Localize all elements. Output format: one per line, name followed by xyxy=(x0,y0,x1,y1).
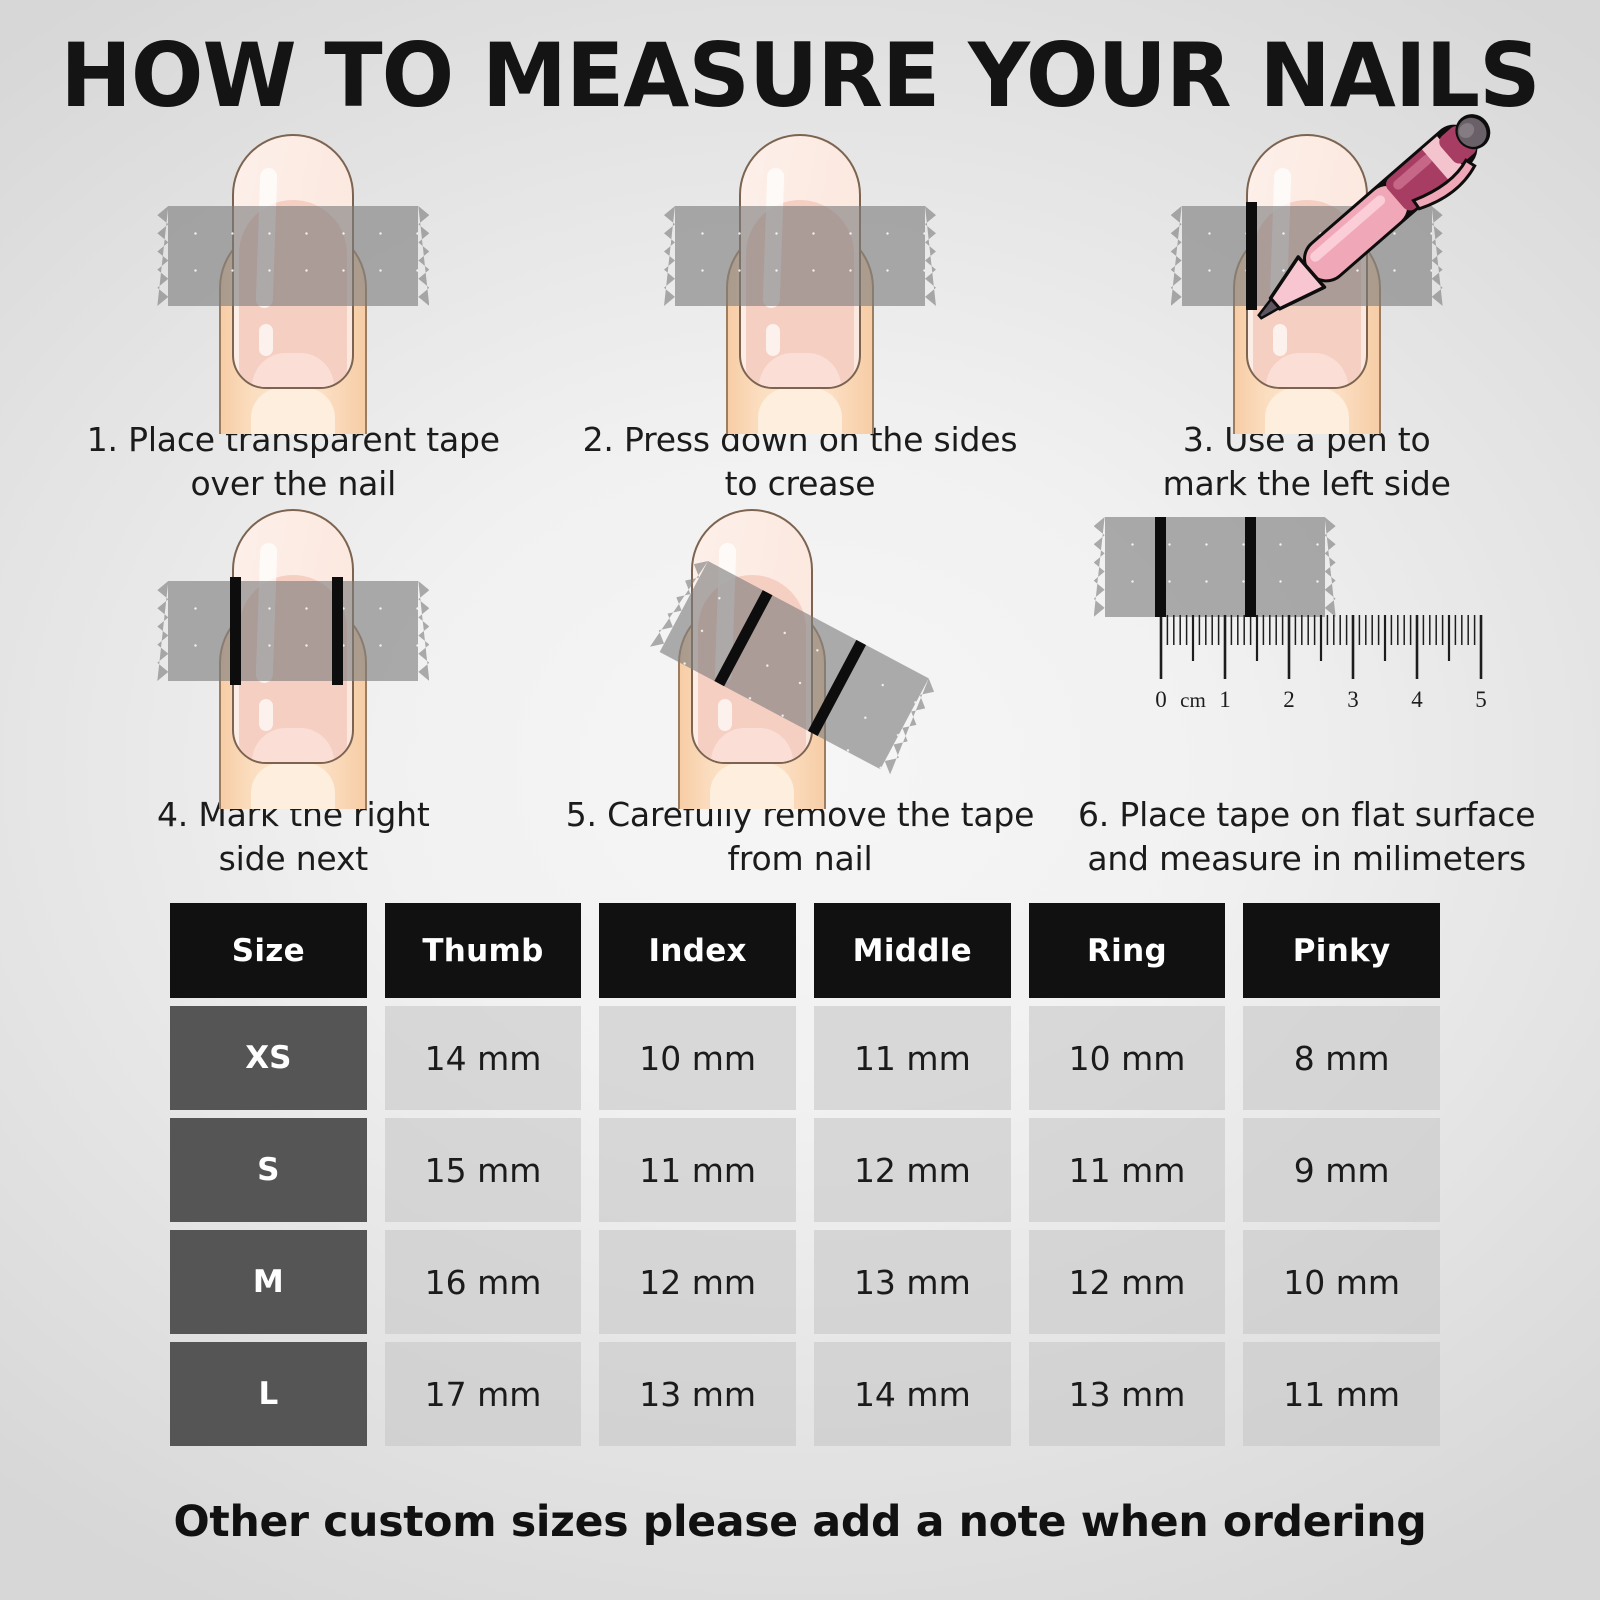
table-cell: 8 mm xyxy=(1243,1006,1440,1110)
right-mark xyxy=(1245,517,1256,617)
table-row: L xyxy=(170,1342,367,1446)
table-cell: 13 mm xyxy=(1029,1342,1226,1446)
step-3: 3. Use a pen to mark the left side xyxy=(1053,128,1560,503)
left-mark xyxy=(1155,517,1166,617)
step-6: 012345cm 6. Place tape on flat surface a… xyxy=(1053,503,1560,878)
pen-icon xyxy=(1232,100,1522,335)
measured-tape-strip xyxy=(1105,517,1325,617)
step-6-caption: 6. Place tape on flat surface and measur… xyxy=(1053,793,1560,881)
table-header-pinky: Pinky xyxy=(1243,903,1440,998)
tape-strip xyxy=(675,206,925,306)
table-cell: 17 mm xyxy=(385,1342,582,1446)
table-cell: 10 mm xyxy=(1029,1006,1226,1110)
two-marks-icon xyxy=(40,503,547,793)
step-2-line2: to crease xyxy=(557,462,1044,506)
tape-removed-icon xyxy=(547,503,1054,793)
table-cell: 16 mm xyxy=(385,1230,582,1334)
tape-strip xyxy=(168,581,418,681)
table-cell: 15 mm xyxy=(385,1118,582,1222)
svg-text:4: 4 xyxy=(1411,687,1423,712)
table-cell: 13 mm xyxy=(814,1230,1011,1334)
table-cell: 10 mm xyxy=(599,1006,796,1110)
table-cell: 13 mm xyxy=(599,1342,796,1446)
step-1: 1. Place transparent tape over the nail xyxy=(40,128,547,503)
table-row: XS xyxy=(170,1006,367,1110)
left-mark xyxy=(230,577,241,685)
table-cell: 9 mm xyxy=(1243,1118,1440,1222)
table-cell: 11 mm xyxy=(599,1118,796,1222)
table-header-size: Size xyxy=(170,903,367,998)
step-1-line2: over the nail xyxy=(50,462,537,506)
table-cell: 14 mm xyxy=(385,1006,582,1110)
step-2: 2. Press down on the sides to crease xyxy=(547,128,1054,503)
table-cell: 12 mm xyxy=(1029,1230,1226,1334)
table-cell: 10 mm xyxy=(1243,1230,1440,1334)
step-5: 5. Carefully remove the tape from nail xyxy=(547,503,1054,878)
svg-text:1: 1 xyxy=(1219,687,1231,712)
finger-tape-creased-icon xyxy=(547,128,1054,418)
table-header-middle: Middle xyxy=(814,903,1011,998)
svg-text:cm: cm xyxy=(1180,688,1206,712)
pen-marking-left-icon xyxy=(1053,128,1560,418)
tape-strip xyxy=(168,206,418,306)
size-chart-table: Size Thumb Index Middle Ring Pinky XS 14… xyxy=(170,903,1440,1446)
steps-grid: 1. Place transparent tape over the nail … xyxy=(40,128,1560,878)
step-4: 4. Mark the right side next xyxy=(40,503,547,878)
table-header-index: Index xyxy=(599,903,796,998)
svg-text:3: 3 xyxy=(1347,687,1359,712)
table-cell: 11 mm xyxy=(814,1006,1011,1110)
table-row: M xyxy=(170,1230,367,1334)
table-cell: 12 mm xyxy=(814,1118,1011,1222)
ruler-icon: 012345cm xyxy=(1053,503,1560,793)
finger-with-tape-icon xyxy=(40,128,547,418)
svg-text:0: 0 xyxy=(1155,687,1167,712)
table-header-thumb: Thumb xyxy=(385,903,582,998)
ruler-scale: 012345cm xyxy=(1151,613,1501,733)
step-5-line2: from nail xyxy=(557,837,1044,881)
step-6-line2: and measure in milimeters xyxy=(1063,837,1550,881)
svg-text:2: 2 xyxy=(1283,687,1295,712)
step-3-line2: mark the left side xyxy=(1063,462,1550,506)
right-mark xyxy=(332,577,343,685)
table-row: S xyxy=(170,1118,367,1222)
svg-text:5: 5 xyxy=(1475,687,1487,712)
table-cell: 12 mm xyxy=(599,1230,796,1334)
table-cell: 11 mm xyxy=(1243,1342,1440,1446)
table-cell: 14 mm xyxy=(814,1342,1011,1446)
custom-size-note: Other custom sizes please add a note whe… xyxy=(8,1497,1592,1547)
table-cell: 11 mm xyxy=(1029,1118,1226,1222)
table-header-ring: Ring xyxy=(1029,903,1226,998)
step-4-line2: side next xyxy=(50,837,537,881)
